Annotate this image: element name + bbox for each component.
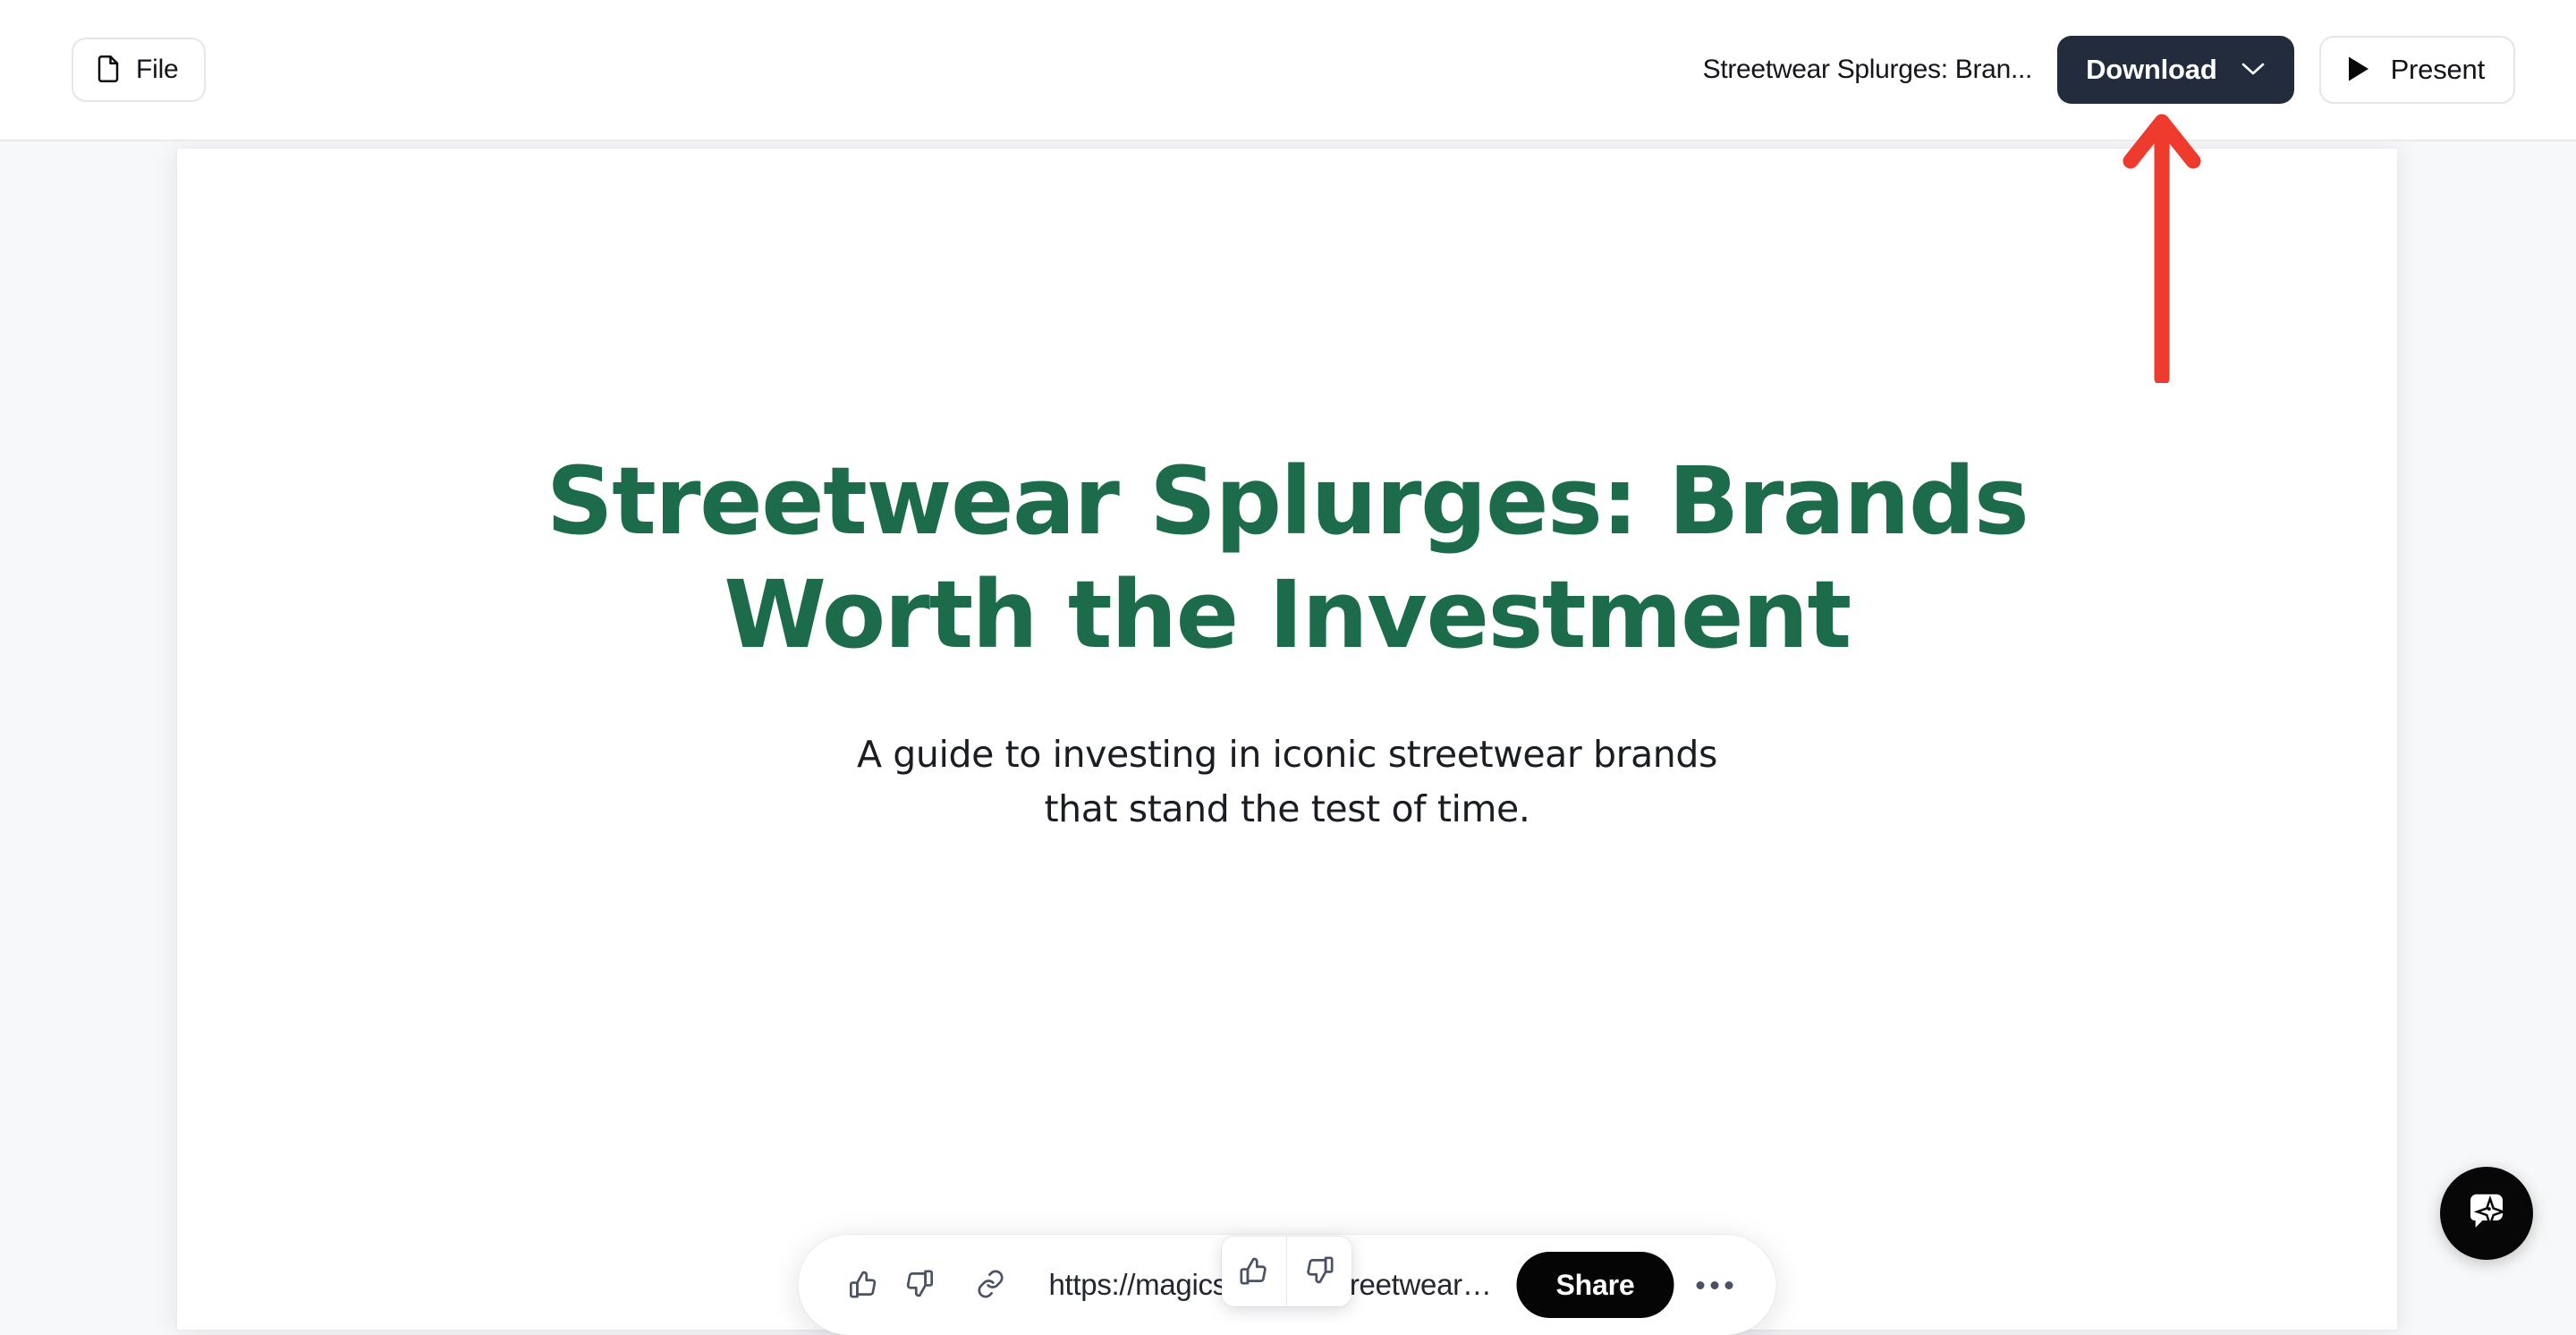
chevron-down-icon xyxy=(2241,61,2266,80)
slide-subtitle: A guide to investing in iconic streetwea… xyxy=(835,727,1739,836)
file-document-icon xyxy=(95,54,122,87)
chat-sparkle-icon xyxy=(2462,1188,2511,1239)
slide-stage: Streetwear Splurges: Brands Worth the In… xyxy=(0,141,2576,1287)
share-button[interactable]: Share xyxy=(1517,1252,1674,1318)
share-bar: https://magicsli……p/Streetwear… Share xyxy=(799,1235,1776,1335)
slide-title: Streetwear Splurges: Brands Worth the In… xyxy=(437,445,2137,672)
file-button[interactable]: File xyxy=(72,38,206,102)
slide-content: Streetwear Splurges: Brands Worth the In… xyxy=(177,149,2397,1133)
thumbs-down-icon xyxy=(1304,1255,1335,1288)
feedback-popover xyxy=(1222,1237,1352,1306)
slide-card[interactable]: Streetwear Splurges: Brands Worth the In… xyxy=(177,149,2397,1330)
header-left-group: File xyxy=(0,38,206,102)
present-button[interactable]: Present xyxy=(2319,36,2515,104)
download-button-label: Download xyxy=(2086,54,2217,86)
share-bar-thumbs-down-button[interactable] xyxy=(892,1257,947,1313)
play-triangle-icon xyxy=(2346,55,2371,86)
download-button[interactable]: Download xyxy=(2057,36,2294,104)
share-bar-thumbs-up-button[interactable] xyxy=(836,1257,892,1313)
thumbs-up-icon xyxy=(849,1269,879,1302)
header-right-group: Streetwear Splurges: Bran... Download Pr… xyxy=(1703,36,2576,104)
thumbs-up-icon xyxy=(1239,1255,1269,1288)
app-header: File Streetwear Splurges: Bran... Downlo… xyxy=(0,0,2576,141)
popover-thumbs-up-button[interactable] xyxy=(1222,1237,1286,1306)
link-chain-icon xyxy=(976,1269,1006,1302)
copy-link-button[interactable] xyxy=(963,1257,1019,1313)
ellipsis-horizontal-icon xyxy=(1697,1281,1733,1289)
present-button-label: Present xyxy=(2391,54,2485,86)
popover-thumbs-down-button[interactable] xyxy=(1287,1237,1352,1306)
thumbs-down-icon xyxy=(904,1269,935,1302)
document-title: Streetwear Splurges: Bran... xyxy=(1703,55,2032,85)
file-button-label: File xyxy=(136,55,179,85)
chat-launcher-button[interactable] xyxy=(2440,1167,2533,1260)
share-bar-more-button[interactable] xyxy=(1686,1256,1743,1314)
